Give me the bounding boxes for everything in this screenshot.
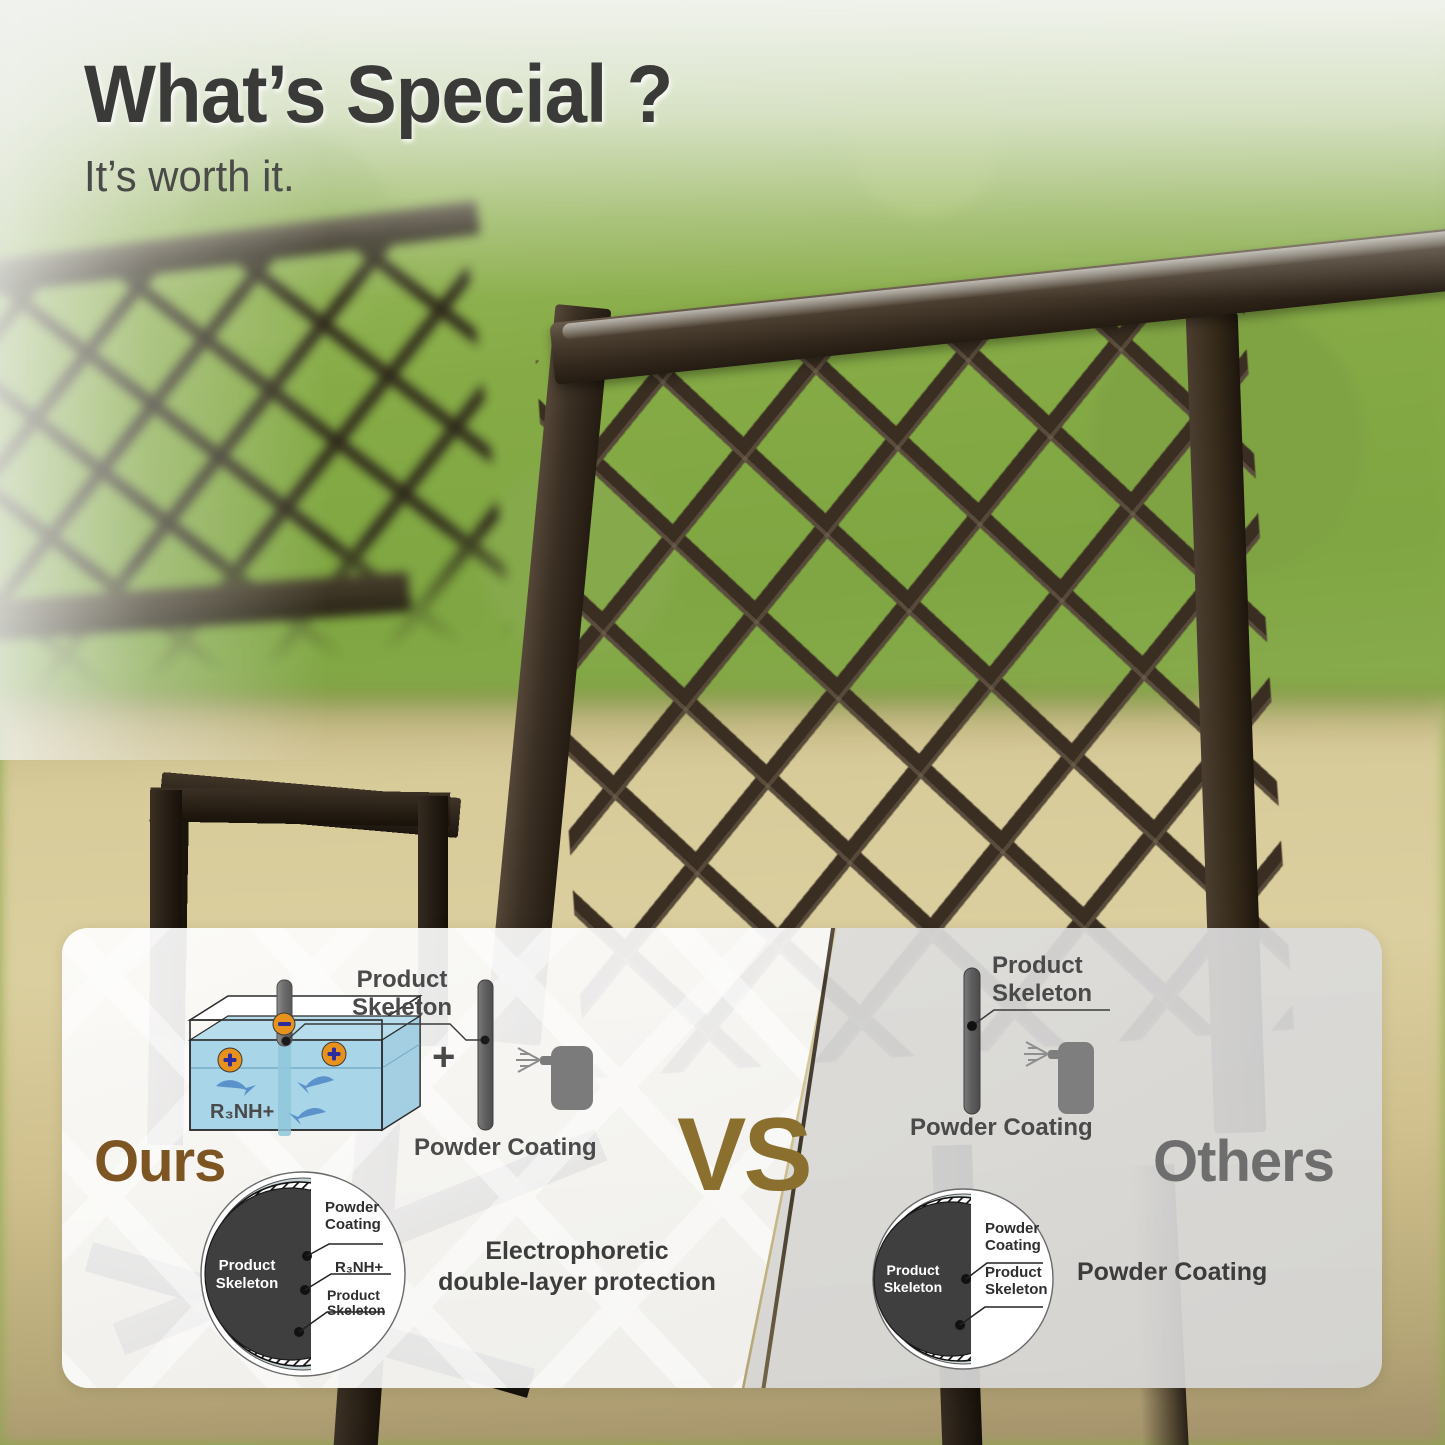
ours-caption-line1: Electrophoretic bbox=[485, 1237, 668, 1265]
powder-only-diagram: Product Skeleton Powder Coating bbox=[922, 946, 1202, 1146]
others-caption: Powder Coating bbox=[1077, 1258, 1337, 1287]
skeleton-label-line1: Product bbox=[357, 966, 448, 993]
powder-coating-label-others: Powder Coating bbox=[910, 1114, 1093, 1142]
ours-layer-3-label: Product Skeleton bbox=[327, 1288, 385, 1319]
powder-coating-label-ours: Powder Coating bbox=[414, 1134, 597, 1162]
page-title: What’s Special ? bbox=[84, 52, 672, 138]
svg-text:Product: Product bbox=[887, 1262, 940, 1278]
plus-sign: + bbox=[432, 1035, 455, 1079]
ours-cross-section: Product Skeleton Powder Coating R₃NH+ Pr… bbox=[195, 1166, 411, 1382]
others-layer-2-label: Product Skeleton bbox=[985, 1265, 1048, 1298]
skeleton-label-line2: Skeleton bbox=[352, 994, 452, 1021]
skeleton-label-ours: Product Skeleton bbox=[327, 966, 477, 1023]
svg-text:Skeleton: Skeleton bbox=[884, 1279, 942, 1295]
comparison-panel: R₃NH+ + Product Skeleton bbox=[62, 928, 1382, 1388]
others-layer-1-label: Powder Coating bbox=[985, 1221, 1041, 1254]
svg-text:Skeleton: Skeleton bbox=[216, 1275, 279, 1292]
page-subtitle: It’s worth it. bbox=[84, 152, 685, 202]
ours-side-label: Ours bbox=[94, 1128, 225, 1195]
skeleton-label-others: Product Skeleton bbox=[992, 952, 1092, 1008]
others-cross-section: Product Skeleton Powder Coating Product … bbox=[867, 1183, 1059, 1375]
chair-frame-bar bbox=[150, 787, 451, 826]
svg-text:Product: Product bbox=[219, 1257, 276, 1274]
electrophoresis-diagram: R₃NH+ + Product Skeleton bbox=[182, 968, 612, 1158]
ours-caption: Electrophoretic double-layer protection bbox=[437, 1236, 717, 1297]
ours-layer-1-label: Powder Coating bbox=[325, 1200, 381, 1233]
solution-formula: R₃NH+ bbox=[210, 1101, 274, 1123]
title-block: What’s Special ? It’s worth it. bbox=[84, 52, 717, 202]
ours-caption-line2: double-layer protection bbox=[438, 1268, 716, 1296]
ours-layer-2-label: R₃NH+ bbox=[335, 1259, 383, 1276]
vs-label: VS bbox=[677, 1103, 810, 1207]
